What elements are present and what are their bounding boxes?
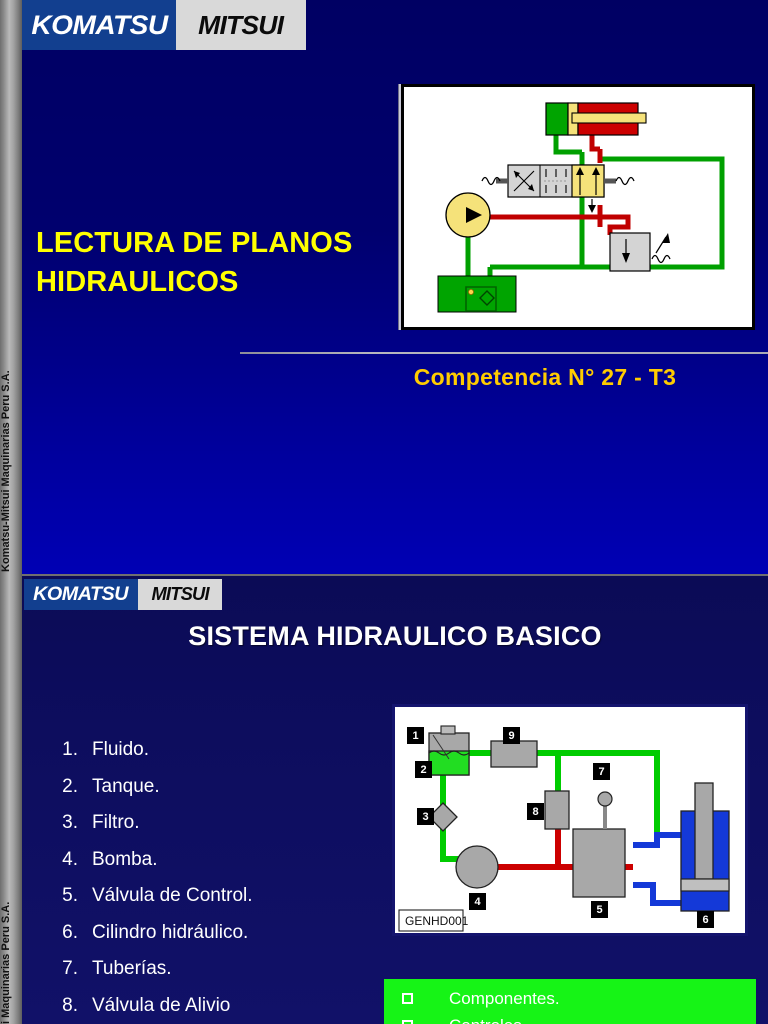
mitsui-wordmark-2: MITSUI bbox=[151, 584, 208, 605]
svg-text:5: 5 bbox=[596, 904, 602, 916]
sidebar-company-text-bottom: i Maquinarias Peru S.A. bbox=[0, 826, 22, 1024]
list-item: 6. Cilindro hidráulico. bbox=[56, 915, 386, 952]
list-item-number: 2. bbox=[56, 769, 92, 806]
list-item-label: Cilindro hidráulico. bbox=[92, 915, 248, 952]
brand-logo-lockup-slide1: KOMATSU MITSUI bbox=[22, 0, 306, 50]
bullet-square-icon bbox=[402, 1020, 413, 1024]
topic-label: Componentes. bbox=[449, 989, 560, 1009]
topics-green-box: Componentes. Controles. bbox=[384, 979, 756, 1024]
hydraulic-circuit-diagram bbox=[401, 84, 755, 330]
bullet-square-icon bbox=[402, 993, 413, 1004]
list-item-number: 5. bbox=[56, 878, 92, 915]
list-item: 8. Válvula de Alivio bbox=[56, 988, 386, 1024]
list-item-number: 7. bbox=[56, 951, 92, 988]
komatsu-logo-2: KOMATSU bbox=[24, 579, 138, 610]
list-item-label: Válvula de Control. bbox=[92, 878, 253, 915]
list-item: 2. Tanque. bbox=[56, 769, 386, 806]
mitsui-wordmark: MITSUI bbox=[199, 10, 284, 41]
title-divider-rule bbox=[240, 352, 768, 354]
komatsu-wordmark: KOMATSU bbox=[31, 10, 167, 41]
list-item-label: Fluido. bbox=[92, 732, 149, 769]
list-item: 7. Tuberías. bbox=[56, 951, 386, 988]
brand-logo-lockup-slide2: KOMATSU MITSUI bbox=[24, 579, 222, 610]
component-list: 1. Fluido. 2. Tanque. 3. Filtro. 4. Bomb… bbox=[56, 732, 386, 1024]
diagram-code-label: GENHD001 bbox=[405, 914, 469, 928]
slide-separator bbox=[22, 574, 768, 576]
mitsui-logo-2: MITSUI bbox=[138, 579, 222, 610]
slide2-title: SISTEMA HIDRAULICO BASICO bbox=[22, 621, 768, 652]
komatsu-logo: KOMATSU bbox=[22, 0, 176, 50]
list-item-number: 8. bbox=[56, 988, 92, 1024]
topic-row: Componentes. bbox=[402, 985, 756, 1012]
svg-text:3: 3 bbox=[422, 811, 428, 823]
list-item-number: 3. bbox=[56, 805, 92, 842]
svg-text:8: 8 bbox=[532, 806, 538, 818]
slide1-title-line1: LECTURA DE PLANOS bbox=[36, 224, 416, 263]
list-item-label: Tanque. bbox=[92, 769, 160, 806]
mitsui-logo: MITSUI bbox=[176, 0, 306, 50]
presentation-page: Komatsu-Mitsui Maquinarias Peru S.A. i M… bbox=[0, 0, 768, 1024]
slide-2: KOMATSU MITSUI SISTEMA HIDRAULICO BASICO… bbox=[22, 576, 768, 1024]
list-item-label: Filtro. bbox=[92, 805, 140, 842]
list-item-number: 1. bbox=[56, 732, 92, 769]
list-item: 4. Bomba. bbox=[56, 842, 386, 879]
basic-system-svg: 1 2 3 4 5 6 7 8 9 GENHD001 bbox=[395, 707, 745, 933]
basic-system-diagram: 1 2 3 4 5 6 7 8 9 GENHD001 bbox=[392, 704, 748, 936]
svg-text:6: 6 bbox=[702, 914, 708, 926]
hydraulic-circuit-svg bbox=[404, 87, 752, 327]
slide1-title: LECTURA DE PLANOS HIDRAULICOS bbox=[36, 224, 416, 302]
list-item-label: Válvula de Alivio bbox=[92, 988, 230, 1024]
list-item-label: Tuberías. bbox=[92, 951, 172, 988]
list-item: 5. Válvula de Control. bbox=[56, 878, 386, 915]
svg-text:2: 2 bbox=[420, 764, 426, 776]
sidebar-company-text-top: Komatsu-Mitsui Maquinarias Peru S.A. bbox=[0, 232, 22, 572]
topic-label: Controles. bbox=[449, 1016, 526, 1024]
svg-text:1: 1 bbox=[412, 730, 418, 742]
topic-row: Controles. bbox=[402, 1012, 756, 1024]
svg-text:7: 7 bbox=[598, 766, 604, 778]
svg-text:9: 9 bbox=[508, 730, 514, 742]
list-item-label: Bomba. bbox=[92, 842, 157, 879]
slide-1: KOMATSU MITSUI LECTURA DE PLANOS HIDRAUL… bbox=[22, 0, 768, 574]
list-item-number: 6. bbox=[56, 915, 92, 952]
list-item-number: 4. bbox=[56, 842, 92, 879]
komatsu-wordmark-2: KOMATSU bbox=[34, 584, 129, 606]
svg-text:4: 4 bbox=[474, 896, 481, 908]
slide1-title-line2: HIDRAULICOS bbox=[36, 263, 416, 302]
competencia-label: Competencia N° 27 - T3 bbox=[322, 364, 768, 391]
list-item: 1. Fluido. bbox=[56, 732, 386, 769]
list-item: 3. Filtro. bbox=[56, 805, 386, 842]
left-spine-strip: Komatsu-Mitsui Maquinarias Peru S.A. i M… bbox=[0, 0, 22, 1024]
